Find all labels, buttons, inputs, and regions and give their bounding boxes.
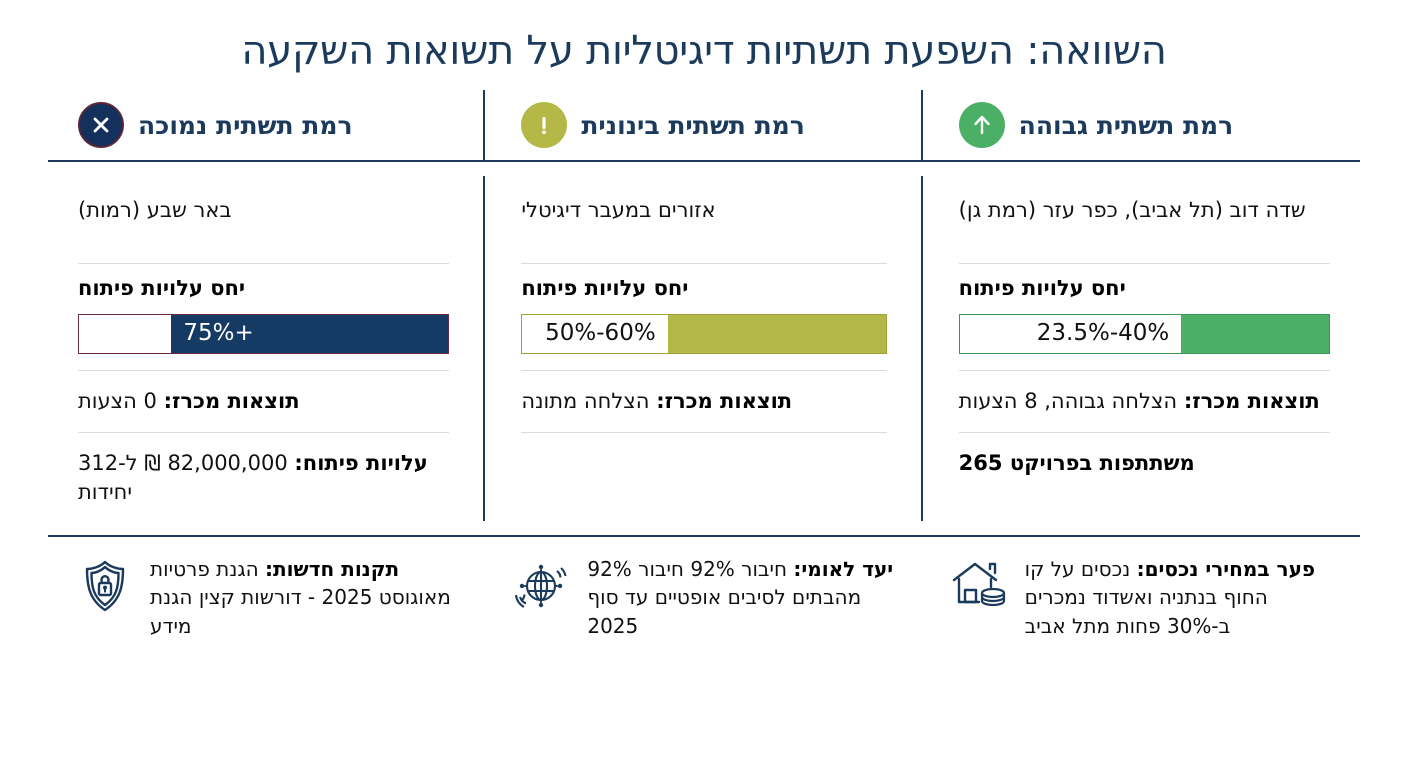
footer-text: תקנות חדשות: הגנת פרטיות מאוגוסט 2025 - …: [150, 555, 461, 640]
column-medium: רמת תשתית בינונית: [485, 90, 922, 160]
ratio-bar: 50%-60%: [521, 314, 886, 354]
infographic-page: השוואה: השפעת תשתיות דיגיטליות על תשואות…: [0, 0, 1408, 768]
divider-vertical-left-body: [483, 176, 485, 521]
ratio-bar-fill: [668, 315, 886, 353]
location-cell: אזורים במעבר דיגיטלי: [521, 180, 886, 264]
cost-label: משתתפות בפרויקט 265: [959, 451, 1195, 475]
column-body-low: באר שבע (רמות) יחס עלויות פיתוח 75%+ תוצ…: [48, 180, 485, 521]
tender-cell: תוצאות מכרז: הצלחה גבוהה, 8 הצעות: [959, 371, 1330, 433]
divider-vertical-right-body: [921, 176, 923, 521]
tender-label: תוצאות מכרז:: [656, 389, 792, 413]
divider-vertical-left: [483, 90, 485, 160]
cost-value: 82,000,000 ₪ ל-312 יחידות: [78, 451, 288, 504]
divider-header-rule: [48, 160, 1360, 162]
tender-value: הצלחה מתונה: [521, 389, 649, 413]
tender-label: תוצאות מכרז:: [1184, 389, 1320, 413]
column-header-high: רמת תשתית גבוהה: [959, 90, 1330, 160]
exclamation-icon: [521, 102, 567, 148]
footer-label: יעד לאומי:: [793, 557, 893, 581]
divider-footer-rule: [48, 535, 1360, 537]
tender-value: 0 הצעות: [78, 389, 157, 413]
footer-label: תקנות חדשות:: [265, 557, 399, 581]
tender-cell: תוצאות מכרז: הצלחה מתונה: [521, 371, 886, 433]
ratio-bar-label: יחס עלויות פיתוח: [959, 274, 1330, 303]
globe-network-icon: [509, 555, 571, 619]
footer-item-national-target: יעד לאומי: חיבור 92% חיבור 92% מהבתים לס…: [485, 555, 922, 640]
ratio-bar-empty: [79, 315, 171, 353]
footer-item-new-regulations: תקנות חדשות: הגנת פרטיות מאוגוסט 2025 - …: [48, 555, 485, 640]
ratio-bar-value: 75%+: [171, 315, 448, 353]
ratio-bar-cell: יחס עלויות פיתוח 50%-60%: [521, 264, 886, 371]
ratio-bar: 75%+: [78, 314, 449, 354]
ratio-bar-label: יחס עלויות פיתוח: [521, 274, 886, 303]
ratio-bar-value: 23.5%-40%: [960, 315, 1182, 353]
ratio-bar-cell: יחס עלויות פיתוח 75%+: [78, 264, 449, 371]
column-header-label: רמת תשתית גבוהה: [1019, 111, 1234, 140]
location-cell: באר שבע (רמות): [78, 180, 449, 264]
footer-item-price-gap: פער במחירי נכסים: נכסים על קו החוף בנתני…: [923, 555, 1360, 640]
ratio-bar-label: יחס עלויות פיתוח: [78, 274, 449, 303]
ratio-bar-cell: יחס עלויות פיתוח 23.5%-40%: [959, 264, 1330, 371]
column-bodies: שדה דוב (תל אביב), כפר עזר (רמת גן) יחס …: [48, 176, 1360, 521]
divider-vertical-right: [921, 90, 923, 160]
column-body-high: שדה דוב (תל אביב), כפר עזר (רמת גן) יחס …: [923, 180, 1360, 521]
column-header-label: רמת תשתית בינונית: [581, 111, 804, 140]
cost-cell: [521, 433, 886, 519]
tender-label: תוצאות מכרז:: [164, 389, 300, 413]
column-header-label: רמת תשתית נמוכה: [138, 111, 353, 140]
tender-value: הצלחה גבוהה, 8 הצעות: [959, 389, 1177, 413]
shield-lock-icon: [72, 555, 134, 619]
footer-text: יעד לאומי: חיבור 92% חיבור 92% מהבתים לס…: [587, 555, 898, 640]
cost-cell: עלויות פיתוח: 82,000,000 ₪ ל-312 יחידות: [78, 433, 449, 521]
ratio-bar-fill: [1181, 315, 1329, 353]
column-body-medium: אזורים במעבר דיגיטלי יחס עלויות פיתוח 50…: [485, 180, 922, 521]
column-high: רמת תשתית גבוהה: [923, 90, 1360, 160]
footer-label: פער במחירי נכסים:: [1137, 557, 1315, 581]
column-header-low: רמת תשתית נמוכה: [78, 90, 449, 160]
ratio-bar: 23.5%-40%: [959, 314, 1330, 354]
house-coins-icon: [947, 555, 1009, 619]
close-x-icon: [78, 102, 124, 148]
page-title: השוואה: השפעת תשתיות דיגיטליות על תשואות…: [48, 0, 1360, 84]
ratio-bar-value: 50%-60%: [522, 315, 667, 353]
arrow-up-icon: [959, 102, 1005, 148]
footer-notes: פער במחירי נכסים: נכסים על קו החוף בנתני…: [48, 555, 1360, 640]
tender-cell: תוצאות מכרז: 0 הצעות: [78, 371, 449, 433]
column-headers: רמת תשתית גבוהה רמת תשתית בינונית: [48, 90, 1360, 160]
column-low: רמת תשתית נמוכה: [48, 90, 485, 160]
column-header-medium: רמת תשתית בינונית: [521, 90, 886, 160]
location-cell: שדה דוב (תל אביב), כפר עזר (רמת גן): [959, 180, 1330, 264]
footer-text: פער במחירי נכסים: נכסים על קו החוף בנתני…: [1025, 555, 1336, 640]
cost-label: עלויות פיתוח:: [294, 451, 427, 475]
cost-cell: משתתפות בפרויקט 265: [959, 433, 1330, 519]
